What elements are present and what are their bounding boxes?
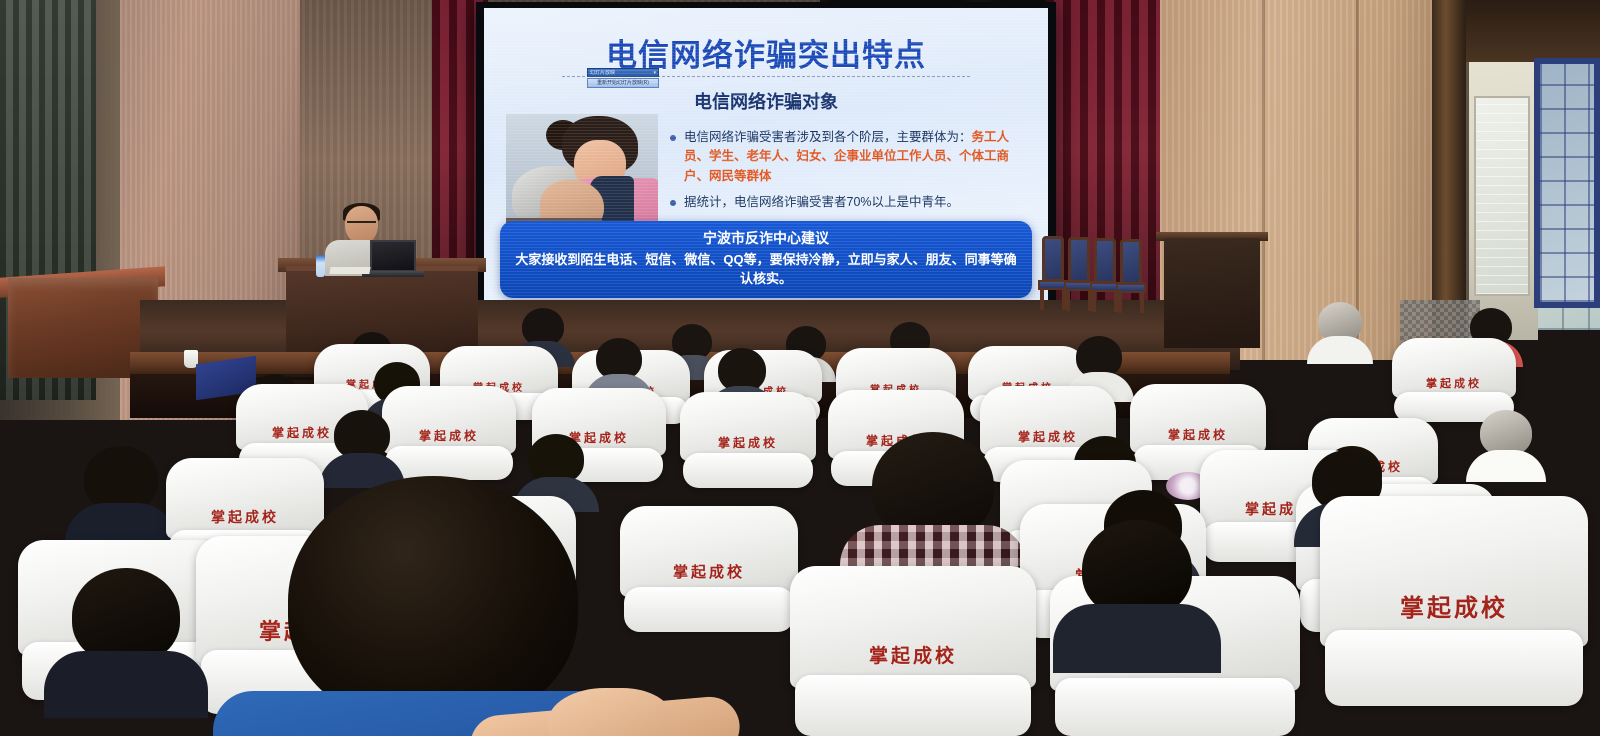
chair-back xyxy=(790,566,1036,688)
attendee-with-phone xyxy=(872,432,994,540)
audience-chair: 掌起成校 xyxy=(680,392,816,488)
attendee-head xyxy=(1082,520,1192,618)
advice-title: 宁波市反诈中心建议 xyxy=(512,228,1020,248)
head xyxy=(72,568,180,664)
list-item: 电信网络诈骗受害者涉及到各个阶层，主要群体为：务工人员、学生、老年人、妇女、企事… xyxy=(670,128,1032,186)
powerpoint-slideshow-menu[interactable]: 幻灯片放映 ▾ 重新开始幻灯片放映(R) xyxy=(587,68,659,88)
chair-cover-text: 掌起成校 xyxy=(1320,588,1588,623)
audience-chair: 掌起成校 xyxy=(790,566,1036,736)
chair-cover-text: 掌起成校 xyxy=(1392,375,1516,391)
laptop-screen xyxy=(370,240,416,272)
chair-cover-text: 掌起成校 xyxy=(680,434,816,451)
bullet-dot-icon xyxy=(670,200,676,206)
projected-slide: 电信网络诈骗突出特点 幻灯片放映 ▾ 重新开始幻灯片放映(R) 电信网络诈骗对象 xyxy=(484,8,1048,308)
chair-seat-cushion xyxy=(624,587,795,632)
ppt-menu-bar[interactable]: 幻灯片放映 ▾ xyxy=(587,68,659,77)
chair-back xyxy=(1068,237,1090,283)
list-item: 据统计，电信网络诈骗受害者70%以上是中青年。 xyxy=(670,193,1032,212)
projection-screen-frame: 电信网络诈骗突出特点 幻灯片放映 ▾ 重新开始幻灯片放映(R) 电信网络诈骗对象 xyxy=(476,2,1056,318)
bullet-text: 据统计，电信网络诈骗受害者70%以上是中青年。 xyxy=(684,193,959,212)
chair-back xyxy=(1094,238,1116,284)
chair-back xyxy=(1120,239,1142,285)
glasses-icon xyxy=(347,221,376,226)
slide-subtitle: 电信网络诈骗对象 xyxy=(484,88,1048,114)
audience-chair: 掌起成校 xyxy=(1320,496,1588,706)
chair-cover-text: 掌起成校 xyxy=(382,427,516,444)
shoulders xyxy=(1053,604,1220,673)
chair-cover-text: 掌起成校 xyxy=(620,561,798,582)
ppt-menu-bar-label: 幻灯片放映 xyxy=(590,69,615,76)
slide-bullet-list: 电信网络诈骗受害者涉及到各个阶层，主要群体为：务工人员、学生、老年人、妇女、企事… xyxy=(670,128,1032,220)
shoulders xyxy=(1307,336,1374,364)
chair-seat-cushion xyxy=(385,446,514,480)
foreground-attendee xyxy=(288,476,578,726)
podium-papers xyxy=(329,267,370,274)
attendee-head xyxy=(596,338,642,380)
water-bottle xyxy=(316,255,325,277)
bullet-text: 电信网络诈骗受害者涉及到各个阶层，主要群体为：务工人员、学生、老年人、妇女、企事… xyxy=(684,128,1032,186)
chair-cover-text: 掌起成校 xyxy=(790,641,1036,668)
chevron-down-icon[interactable]: ▾ xyxy=(653,70,656,76)
slide-photo: 年轻女子拥抱老年妇女 xyxy=(506,114,658,232)
attendee-head xyxy=(1318,302,1362,342)
laptop-base xyxy=(362,271,424,277)
chair-seat-cushion xyxy=(1325,630,1582,706)
bullet-lead: 据统计，电信网络诈骗受害者70%以上是中青年。 xyxy=(684,195,959,209)
advice-body: 大家接收到陌生电话、短信、微信、QQ等，要保持冷静，立即与家人、朋友、同事等确认… xyxy=(512,251,1020,289)
bullet-lead: 电信网络诈骗受害者涉及到各个阶层，主要群体为： xyxy=(684,130,972,144)
chair-back xyxy=(1042,236,1064,282)
audience-area: 掌起成校 掌起成校 掌起成校 掌起成校 掌起成校 掌起成校 xyxy=(0,300,1600,736)
chair-back xyxy=(620,506,798,597)
shoulders xyxy=(44,651,208,718)
stage-side-chair xyxy=(1116,239,1146,309)
attendee-head xyxy=(718,348,766,392)
door-transom xyxy=(1466,0,1600,62)
ppt-menu-item-restart[interactable]: 重新开始幻灯片放映(R) xyxy=(587,78,659,88)
attendee-head xyxy=(84,446,158,512)
door-frame xyxy=(1432,0,1466,340)
chair-back xyxy=(1320,496,1588,647)
bullet-dot-icon xyxy=(670,135,676,141)
door-glass-panel xyxy=(1474,96,1530,296)
shoulders xyxy=(1466,450,1545,482)
chair-seat-cushion xyxy=(683,453,814,488)
chair-cover-text: 掌起成校 xyxy=(1130,426,1266,443)
audience-chair: 掌起成校 xyxy=(620,506,798,632)
attendee-head xyxy=(1480,410,1532,456)
advice-callout: 宁波市反诈中心建议 大家接收到陌生电话、短信、微信、QQ等，要保持冷静，立即与家… xyxy=(500,221,1032,298)
attendee-head xyxy=(72,568,180,664)
lecture-hall-photo: 电信网络诈骗突出特点 幻灯片放映 ▾ 重新开始幻灯片放映(R) 电信网络诈骗对象 xyxy=(0,0,1600,736)
head xyxy=(872,432,994,540)
attendee-head xyxy=(522,308,564,346)
slide-title: 电信网络诈骗突出特点 xyxy=(484,30,1048,75)
blue-framed-window xyxy=(1534,58,1600,308)
chair-seat-cushion xyxy=(795,675,1031,736)
attendee-head xyxy=(334,410,390,460)
attendee-head xyxy=(1076,336,1122,378)
head xyxy=(288,476,578,726)
chair-seat-cushion xyxy=(1055,678,1295,736)
chair-seat xyxy=(1116,283,1146,293)
audience-chair: 掌起成校 xyxy=(382,386,516,480)
